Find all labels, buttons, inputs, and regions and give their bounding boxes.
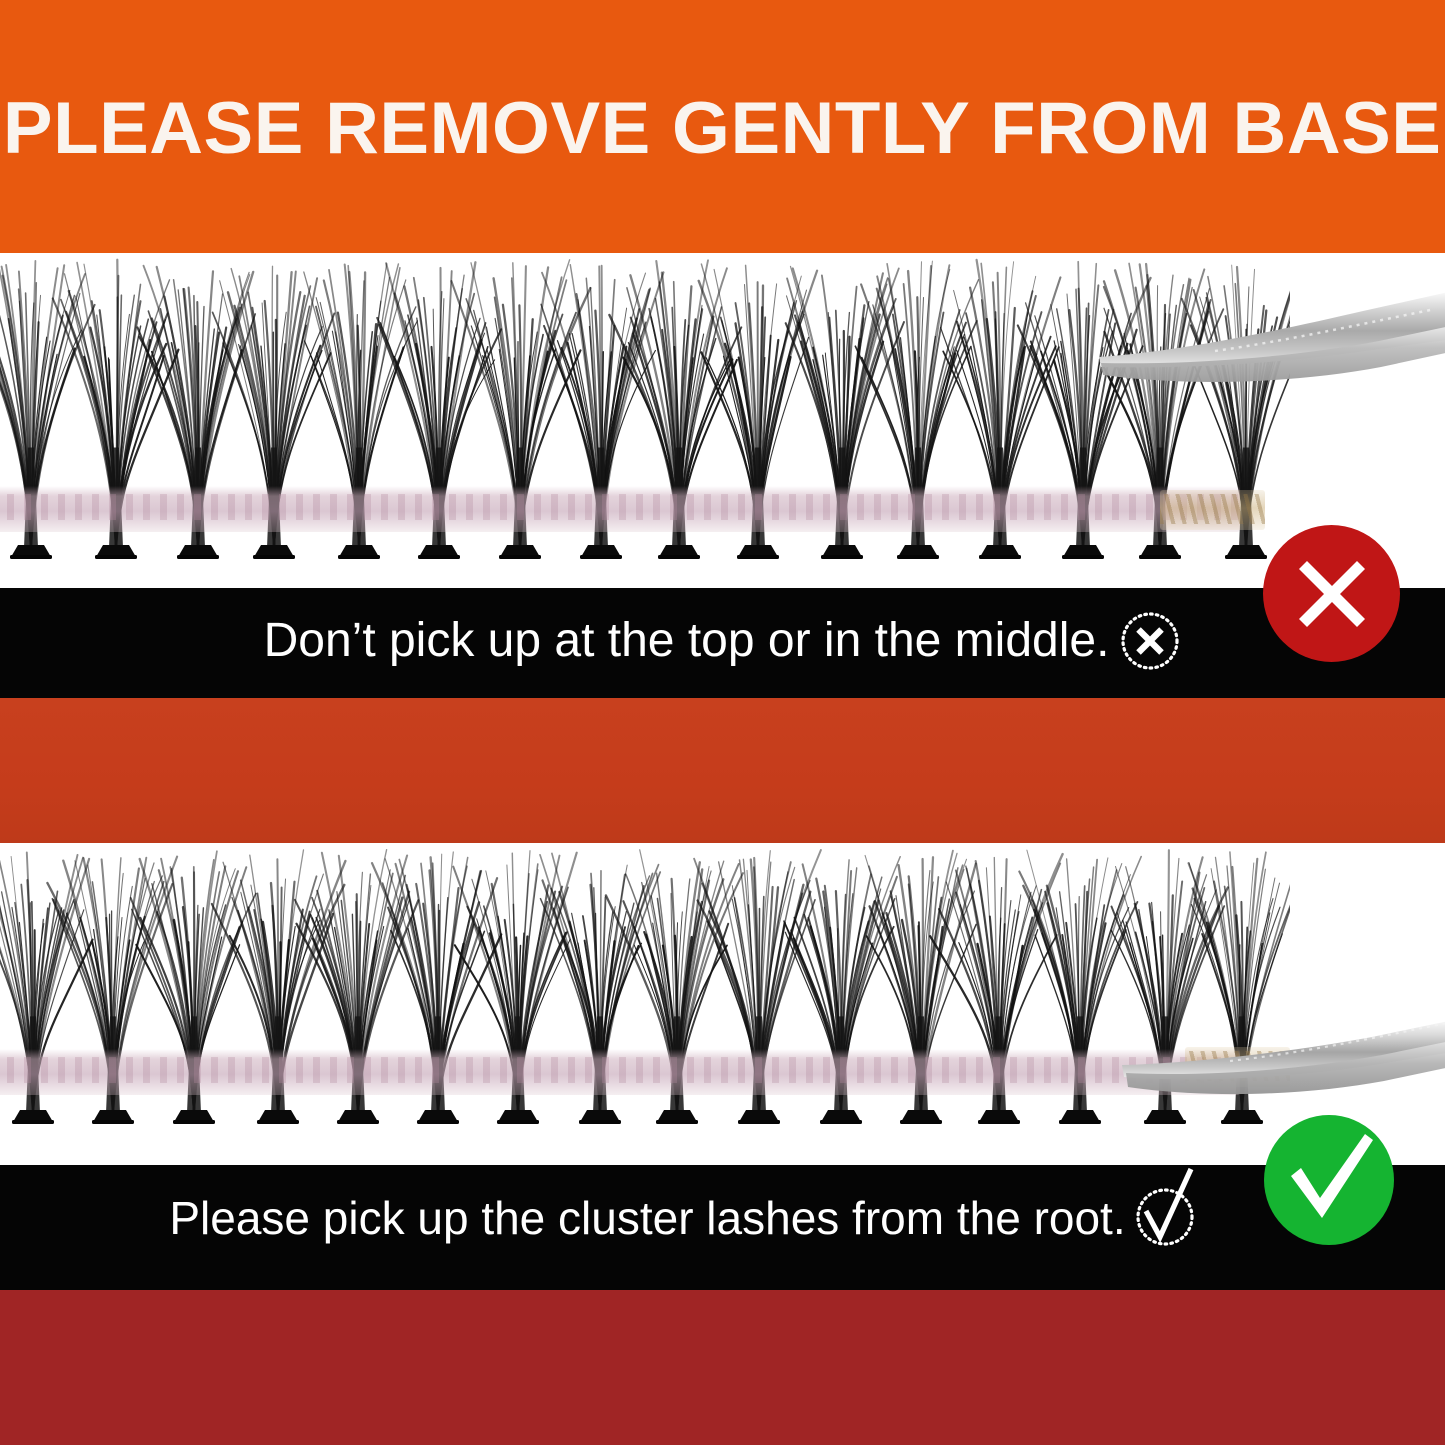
caption-text-correct: Please pick up the cluster lashes from t…: [169, 1195, 1125, 1241]
lash-cluster: [150, 253, 246, 588]
photo-incorrect-method: [0, 253, 1445, 588]
circled-x-icon: [1119, 610, 1181, 672]
lash-tray-band: [0, 1049, 1240, 1095]
footer-band-red: [0, 1290, 1445, 1445]
lash-cluster: [230, 843, 326, 1165]
circled-check-icon: [1134, 1185, 1200, 1251]
lash-cluster: [311, 253, 407, 588]
lash-cluster: [952, 253, 1048, 588]
lash-tray-tail: [1160, 490, 1265, 530]
check-mark-icon: [1281, 1132, 1377, 1228]
tweezer-bottom: [1120, 1021, 1445, 1131]
lash-cluster: [711, 843, 807, 1165]
caption-text-incorrect: Don’t pick up at the top or in the middl…: [264, 617, 1110, 665]
lash-cluster: [0, 253, 79, 588]
lash-cluster: [0, 843, 81, 1165]
lash-cluster: [794, 253, 890, 588]
lash-strip-bottom: [0, 843, 1290, 1165]
photo-correct-method: [0, 843, 1445, 1165]
lash-cluster: [68, 253, 164, 588]
header-band: PLEASE REMOVE GENTLY FROM BASE: [0, 0, 1445, 253]
lash-tray-band: [0, 486, 1240, 532]
status-badge-incorrect: [1263, 525, 1400, 662]
caption-banner-incorrect: Don’t pick up at the top or in the middl…: [0, 588, 1445, 698]
product-instruction-graphic: PLEASE REMOVE GENTLY FROM BASE: [0, 0, 1445, 1445]
divider-band-orange: [0, 698, 1445, 843]
caption-banner-correct: Please pick up the cluster lashes from t…: [0, 1165, 1445, 1290]
status-badge-correct: [1264, 1115, 1394, 1245]
page-title: PLEASE REMOVE GENTLY FROM BASE: [3, 88, 1442, 165]
x-mark-icon: [1286, 548, 1378, 640]
tweezer-top: [1095, 305, 1445, 435]
